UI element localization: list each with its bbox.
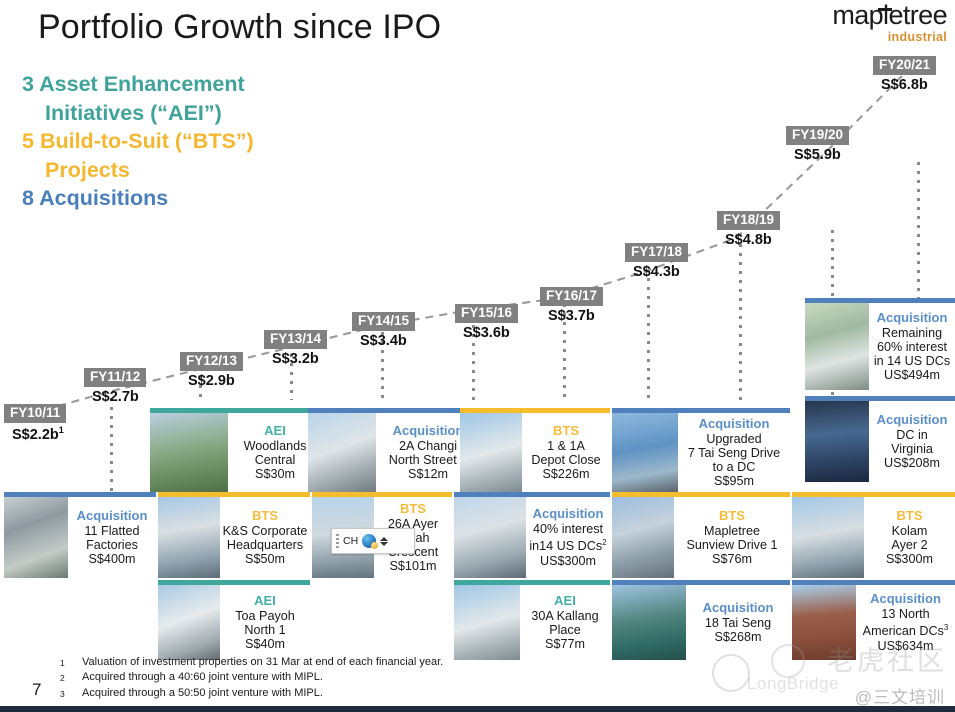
footnote-row: 3 Acquired through a 50:50 joint venture… xyxy=(60,687,443,702)
card-kind: BTS xyxy=(897,509,923,523)
dropline-fy11-12 xyxy=(110,398,113,494)
watermark-author: @三文培训 xyxy=(855,683,945,708)
card-line-text: American DCs xyxy=(863,624,944,638)
card-line: Place xyxy=(549,623,581,637)
card-line: S$40m xyxy=(245,637,285,651)
summary-item-bts-line2: Projects xyxy=(22,156,254,185)
milestone-value-label: S$3.4b xyxy=(352,334,415,349)
mapletree-logo: mapletree industrial xyxy=(832,2,947,44)
milestone-value-label: S$2.7b xyxy=(84,390,146,405)
card-kind: Acquisition xyxy=(877,311,948,325)
card-line: 18 Tai Seng xyxy=(705,616,771,630)
deal-card[interactable]: AEI Woodlands Central S$30m xyxy=(150,408,322,492)
card-line-text: in14 US DCs xyxy=(529,539,602,553)
card-kind: BTS xyxy=(719,509,745,523)
page-title: Portfolio Growth since IPO xyxy=(38,8,441,47)
card-line: Mapletree xyxy=(704,524,760,538)
card-line: to a DC xyxy=(713,460,756,474)
card-photo xyxy=(612,585,686,660)
card-photo xyxy=(454,585,520,660)
dropline-fy18-19 xyxy=(739,244,742,400)
milestone-year-label: FY13/14 xyxy=(264,330,327,349)
card-kind: BTS xyxy=(252,509,278,523)
card-photo xyxy=(308,413,376,492)
footnote-row: 2 Acquired through a 40:60 joint venture… xyxy=(60,671,443,686)
card-line: in14 US DCs2 xyxy=(529,536,606,553)
milestone-value-label: S$3.6b xyxy=(455,326,518,341)
card-photo xyxy=(454,497,526,578)
summary-count-bts: 5 xyxy=(22,129,34,153)
card-line: 1 & 1A xyxy=(547,439,585,453)
footnote-number: 3 xyxy=(60,687,82,702)
card-kind: Acquisition xyxy=(870,592,941,606)
milestone-value-label: S$4.8b xyxy=(717,233,780,248)
card-line: S$400m xyxy=(89,552,136,566)
milestone-year-label: FY14/15 xyxy=(352,312,415,331)
deal-card[interactable]: BTS K&S Corporate Headquarters S$50m xyxy=(158,492,310,578)
deal-card[interactable]: Acquisition 11 Flatted Factories S$400m xyxy=(4,492,156,578)
card-line: S$95m xyxy=(714,474,754,488)
milestone-fy20-21: FY20/21 S$6.8b xyxy=(873,56,936,94)
card-line: S$30m xyxy=(255,467,295,481)
milestone-value-label: S$2.2b1 xyxy=(4,426,66,443)
ime-language-label[interactable]: CH xyxy=(343,535,358,547)
card-photo xyxy=(158,497,220,578)
card-kind: Acquisition xyxy=(77,509,148,523)
card-line: DC in xyxy=(896,428,928,442)
milestone-fy14-15: FY14/15 S$3.4b xyxy=(352,312,415,350)
milestone-year-label: FY20/21 xyxy=(873,56,936,75)
card-line: Remaining xyxy=(882,326,942,340)
card-kind: Acquisition xyxy=(877,413,948,427)
card-line: US$634m xyxy=(877,639,933,653)
footnote-text: Acquired through a 40:60 joint venture w… xyxy=(82,671,323,685)
card-photo xyxy=(612,497,674,578)
card-photo xyxy=(805,303,869,390)
summary-item-acq: 8 Acquisitions xyxy=(22,184,254,213)
footnote-list: 1 Valuation of investment properties on … xyxy=(60,656,443,703)
card-line: North 1 xyxy=(244,623,285,637)
dropline-fy17-18 xyxy=(647,278,650,400)
card-line: 13 North xyxy=(881,607,929,621)
card-line: S$268m xyxy=(715,630,762,644)
milestone-year-label: FY17/18 xyxy=(625,243,688,262)
watermark-longbridge: LongBridge xyxy=(747,674,839,694)
deal-card[interactable]: AEI Toa Payoh North 1 S$40m xyxy=(158,580,310,660)
ime-floating-toolbar[interactable]: CH xyxy=(331,528,415,554)
milestone-value-text: S$2.2b xyxy=(12,427,59,443)
deal-card[interactable]: Acquisition DC in Virginia US$208m xyxy=(805,396,955,482)
chinese-ime-icon[interactable] xyxy=(362,534,376,548)
deal-card[interactable]: Acquisition 40% interest in14 US DCs2 US… xyxy=(454,492,610,578)
card-kind: AEI xyxy=(554,594,576,608)
card-kind: Acquisition xyxy=(703,601,774,615)
deal-card[interactable]: Acquisition Upgraded 7 Tai Seng Drive to… xyxy=(612,408,790,492)
card-kind: AEI xyxy=(254,594,276,608)
ime-spinner-icon[interactable] xyxy=(380,537,388,546)
milestone-footnote-mark: 1 xyxy=(59,425,64,435)
slide-canvas: Portfolio Growth since IPO mapletree ind… xyxy=(0,0,955,712)
card-line: Factories xyxy=(86,538,138,552)
card-kind: BTS xyxy=(400,502,426,516)
card-photo xyxy=(612,413,678,492)
card-line: S$12m xyxy=(408,467,448,481)
deal-card[interactable]: AEI 30A Kallang Place S$77m xyxy=(454,580,610,660)
card-line: S$77m xyxy=(545,637,585,651)
milestone-fy11-12: FY11/12 S$2.7b xyxy=(84,368,146,406)
card-footnote-mark: 2 xyxy=(602,538,606,547)
milestone-year-label: FY12/13 xyxy=(180,352,243,371)
footnote-text: Valuation of investment properties on 31… xyxy=(82,656,443,670)
deal-card[interactable]: BTS Kolam Ayer 2 S$300m xyxy=(792,492,955,578)
deal-card[interactable]: Acquisition Remaining 60% interest in 14… xyxy=(805,298,955,390)
card-line: Sunview Drive 1 xyxy=(687,538,778,552)
deal-card[interactable]: Acquisition 18 Tai Seng S$268m xyxy=(612,580,790,660)
card-line: K&S Corporate xyxy=(223,524,308,538)
deal-card[interactable]: BTS Mapletree Sunview Drive 1 S$76m xyxy=(612,492,790,578)
summary-list: 3 Asset Enhancement Initiatives (“AEI”) … xyxy=(22,70,254,213)
card-line: US$494m xyxy=(884,368,940,382)
summary-count-acq: 8 xyxy=(22,186,34,210)
milestone-value-label: S$5.9b xyxy=(786,148,849,163)
card-kind: Acquisition xyxy=(533,507,604,521)
card-footnote-mark: 3 xyxy=(944,623,948,632)
footnote-number: 1 xyxy=(60,656,82,671)
card-line: 2A Changi xyxy=(399,439,457,453)
card-line: Virginia xyxy=(891,442,933,456)
milestone-fy19-20: FY19/20 S$5.9b xyxy=(786,126,849,164)
card-line: North Street 2 xyxy=(389,453,467,467)
card-line: S$226m xyxy=(543,467,590,481)
card-line: S$76m xyxy=(712,552,752,566)
card-photo xyxy=(460,413,522,492)
milestone-fy16-17: FY16/17 S$3.7b xyxy=(540,287,603,325)
footnote-row: 1 Valuation of investment properties on … xyxy=(60,656,443,671)
page-number: 7 xyxy=(32,680,41,700)
card-line: Central xyxy=(255,453,296,467)
milestone-value-label: S$3.7b xyxy=(540,309,603,324)
card-line: S$300m xyxy=(886,552,933,566)
card-kind: BTS xyxy=(553,424,579,438)
milestone-year-label: FY19/20 xyxy=(786,126,849,145)
deal-card[interactable]: Acquisition 2A Changi North Street 2 S$1… xyxy=(308,408,480,492)
card-line: Headquarters xyxy=(227,538,303,552)
logo-accent-bar xyxy=(878,8,892,11)
summary-item-aei-line2: Initiatives (“AEI”) xyxy=(22,99,254,128)
milestone-year-label: FY15/16 xyxy=(455,304,518,323)
dropline-fy20-21 xyxy=(917,162,920,302)
card-line: 40% interest xyxy=(533,522,603,536)
bottom-accent-bar xyxy=(0,706,955,712)
ime-drag-handle[interactable] xyxy=(336,534,339,548)
card-photo xyxy=(158,585,220,660)
card-line: US$208m xyxy=(884,456,940,470)
card-line: Depot Close xyxy=(531,453,600,467)
footnote-number: 2 xyxy=(60,671,82,686)
card-line: US$300m xyxy=(540,554,596,568)
milestone-year-label: FY11/12 xyxy=(84,368,146,387)
card-line: S$101m xyxy=(390,559,437,573)
milestone-fy13-14: FY13/14 S$3.2b xyxy=(264,330,327,368)
card-line: 7 Tai Seng Drive xyxy=(688,446,780,460)
card-line: 30A Kallang xyxy=(531,609,598,623)
card-line: 11 Flatted xyxy=(84,524,139,538)
footnote-text: Acquired through a 50:50 joint venture w… xyxy=(82,687,323,701)
card-line: Kolam xyxy=(892,524,928,538)
card-line: S$50m xyxy=(245,552,285,566)
milestone-fy12-13: FY12/13 S$2.9b xyxy=(180,352,243,390)
card-kind: Acquisition xyxy=(393,424,464,438)
card-kind: AEI xyxy=(264,424,286,438)
deal-card[interactable]: BTS 1 & 1A Depot Close S$226m xyxy=(460,408,610,492)
milestone-value-label: S$4.3b xyxy=(625,265,688,280)
summary-count-aei: 3 xyxy=(22,72,34,96)
milestone-fy18-19: FY18/19 S$4.8b xyxy=(717,211,780,249)
card-line: in 14 US DCs xyxy=(874,354,950,368)
summary-item-bts: 5 Build-to-Suit (“BTS”) xyxy=(22,127,254,156)
milestone-year-label: FY16/17 xyxy=(540,287,603,306)
deal-card[interactable]: Acquisition 13 North American DCs3 US$63… xyxy=(792,580,955,660)
milestone-value-label: S$2.9b xyxy=(180,374,243,389)
milestone-fy17-18: FY17/18 S$4.3b xyxy=(625,243,688,281)
card-photo xyxy=(792,585,856,660)
summary-text-bts: Build-to-Suit (“BTS”) xyxy=(40,129,254,153)
card-line: Upgraded xyxy=(706,432,761,446)
summary-text-aei: Asset Enhancement xyxy=(39,72,245,96)
summary-item-aei: 3 Asset Enhancement xyxy=(22,70,254,99)
milestone-fy10-11: FY10/11 S$2.2b1 xyxy=(4,404,66,443)
card-kind: Acquisition xyxy=(699,417,770,431)
logo-wordmark: mapletree xyxy=(832,2,947,29)
card-line: Woodlands xyxy=(244,439,307,453)
card-line: Ayer 2 xyxy=(891,538,927,552)
milestone-value-label: S$3.2b xyxy=(264,352,327,367)
card-line: Toa Payoh xyxy=(235,609,295,623)
card-line: American DCs3 xyxy=(863,621,949,638)
card-photo xyxy=(805,401,869,482)
card-line: 60% interest xyxy=(877,340,947,354)
logo-subtitle: industrial xyxy=(832,30,947,44)
milestone-value-label: S$6.8b xyxy=(873,78,936,93)
milestone-fy15-16: FY15/16 S$3.6b xyxy=(455,304,518,342)
card-photo xyxy=(4,497,68,578)
milestone-year-label: FY18/19 xyxy=(717,211,780,230)
summary-text-acq: Acquisitions xyxy=(39,186,168,210)
card-photo xyxy=(792,497,864,578)
milestone-year-label: FY10/11 xyxy=(4,404,66,423)
card-photo xyxy=(150,413,228,492)
